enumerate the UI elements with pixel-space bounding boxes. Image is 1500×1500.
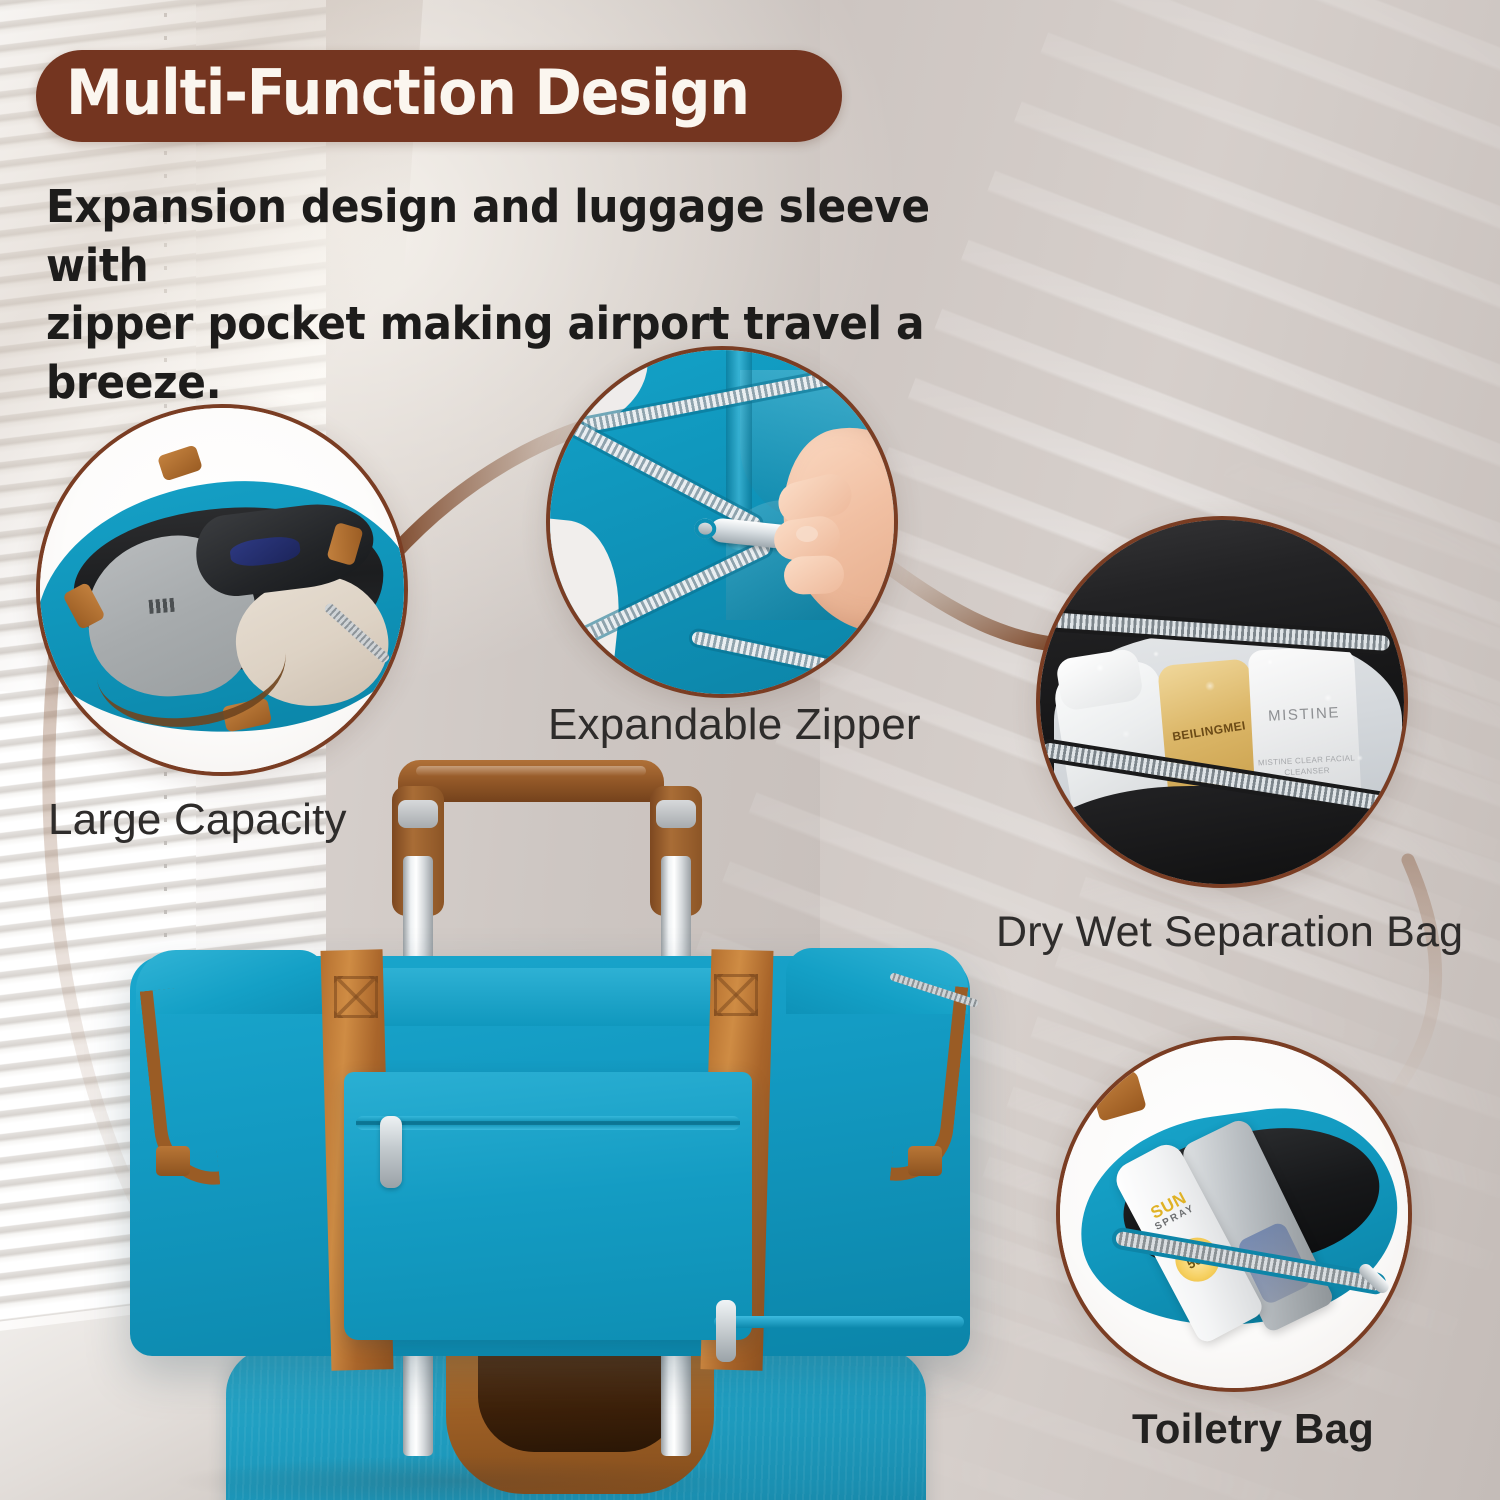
- inset-toiletry-bag[interactable]: SUN SPRAY 50+: [1056, 1036, 1412, 1392]
- duffel-buckle-right: [908, 1146, 942, 1176]
- white-tube-subtext: MISTINE CLEAR FACIAL CLEANSER: [1253, 753, 1360, 780]
- inset-dry-wet-separation[interactable]: BEILINGMEI MISTINE MISTINE CLEAR FACIAL …: [1036, 516, 1408, 888]
- bottom-zipper-pull-icon: [716, 1300, 736, 1362]
- feature-label-expandable-zipper: Expandable Zipper: [548, 700, 921, 750]
- duffel-front-pocket: [344, 1072, 752, 1340]
- white-tube-brand: MISTINE: [1251, 703, 1358, 726]
- front-pocket-zipper: [356, 1116, 740, 1130]
- page-title: Multi-Function Design: [66, 62, 749, 124]
- inset-expandable-zipper-photo: [550, 350, 894, 694]
- duffel-top-middle: [358, 968, 748, 1026]
- inset-large-capacity-photo: [40, 408, 404, 772]
- suitcase-handle-recess: [478, 1344, 680, 1452]
- inset-toiletry-photo: SUN SPRAY 50+: [1060, 1040, 1408, 1388]
- fingernail: [796, 526, 818, 542]
- strap-stitch-right: [714, 974, 758, 1016]
- product-feature-poster: Multi-Function Design Expansion design a…: [0, 0, 1500, 1500]
- subtitle-line-1: Expansion design and luggage sleeve with: [46, 180, 930, 292]
- feature-label-dry-wet-separation-bag: Dry Wet Separation Bag: [996, 908, 1463, 957]
- trolley-cap-left: [398, 800, 438, 828]
- title-badge: Multi-Function Design: [36, 50, 842, 142]
- gold-tube-label: BEILINGMEI: [1166, 718, 1251, 745]
- inset-expandable-zipper[interactable]: [546, 346, 898, 698]
- product-floor-shadow: [60, 1446, 860, 1500]
- trolley-cap-right: [656, 800, 696, 828]
- inset-large-capacity[interactable]: [36, 404, 408, 776]
- duffel-buckle-left: [156, 1146, 190, 1176]
- hero-product-photo: [130, 760, 970, 1500]
- duffel-bottom-zipper: [714, 1316, 964, 1328]
- feature-label-large-capacity: Large Capacity: [48, 795, 347, 845]
- inset-dry-wet-photo: BEILINGMEI MISTINE MISTINE CLEAR FACIAL …: [1040, 520, 1404, 884]
- sun-spray-label: SUN SPRAY: [1138, 1184, 1204, 1237]
- finger-ring: [783, 555, 844, 595]
- front-pocket-zipper-pull-icon: [380, 1116, 402, 1188]
- feature-label-toiletry-bag: Toiletry Bag: [1132, 1405, 1374, 1453]
- strap-stitch-left: [334, 976, 378, 1018]
